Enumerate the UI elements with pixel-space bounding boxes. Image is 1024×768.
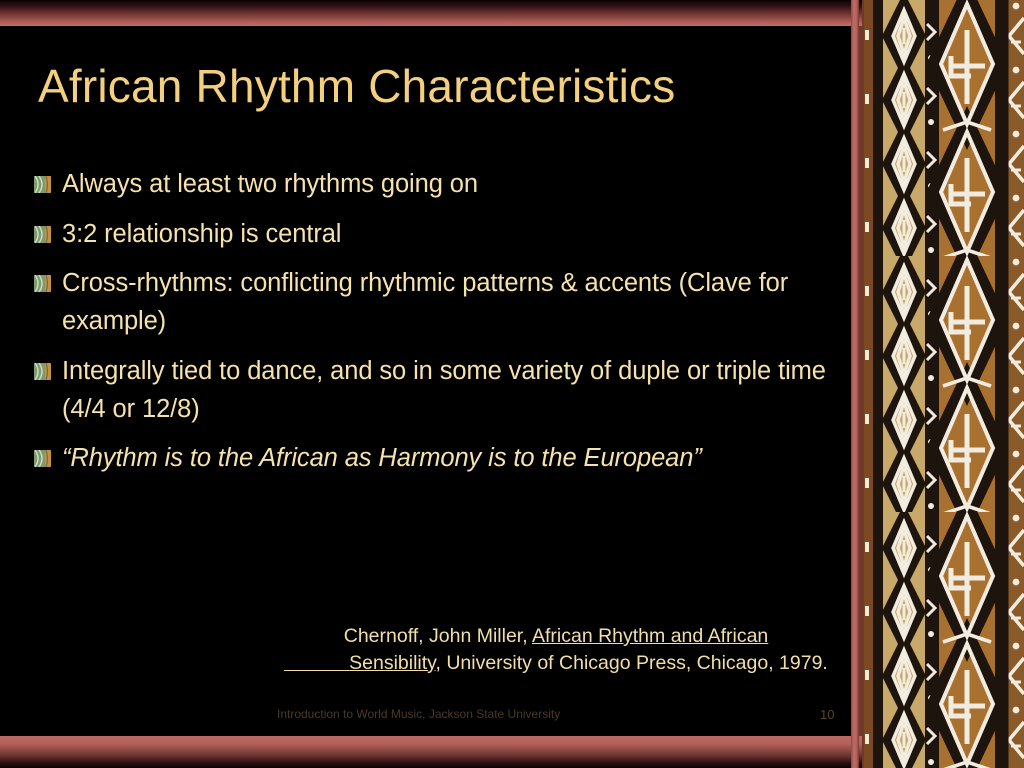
textile-square-bullet-icon (34, 275, 51, 292)
list-item-label: Always at least two rhythms going on (62, 166, 844, 204)
citation-author: Chernoff, John Miller, (344, 625, 532, 647)
mudcloth-pattern-strip (859, 0, 1024, 768)
list-item: Integrally tied to dance, and so in some… (34, 353, 844, 428)
footer-course-label: Introduction to World Music, Jackson Sta… (277, 707, 560, 721)
list-item-label: “Rhythm is to the African as Harmony is … (62, 440, 844, 478)
frame-bottom-bar (0, 736, 862, 768)
list-item: Cross-rhythms: conflicting rhythmic patt… (34, 265, 844, 340)
list-item: “Rhythm is to the African as Harmony is … (34, 440, 844, 478)
frame-vertical-divider (851, 0, 859, 768)
bullet-list: Always at least two rhythms going on (34, 166, 844, 490)
textile-square-bullet-icon (34, 226, 51, 243)
citation-place-year: Chicago, 1979. (697, 652, 828, 674)
list-item-label: Cross-rhythms: conflicting rhythmic patt… (62, 265, 844, 340)
page-title: African Rhythm Characteristics (38, 62, 838, 112)
slide-footer: Introduction to World Music, Jackson Sta… (0, 704, 851, 728)
slide-canvas: African Rhythm Characteristics (0, 0, 1024, 768)
list-item: 3:2 relationship is central (34, 216, 844, 254)
textile-square-bullet-icon (34, 176, 51, 193)
textile-square-bullet-icon (34, 363, 51, 380)
page-number: 10 (820, 707, 834, 722)
list-item-label: 3:2 relationship is central (62, 216, 844, 254)
list-item-label: Integrally tied to dance, and so in some… (62, 353, 844, 428)
textile-square-bullet-icon (34, 450, 51, 467)
slide-content: African Rhythm Characteristics (0, 26, 851, 736)
citation-book-title-line2: Sensibility (349, 652, 435, 674)
citation-book-title-line1: African Rhythm and African (532, 625, 768, 647)
frame-top-bar (0, 0, 862, 26)
citation-block: Chernoff, John Miller, African Rhythm an… (272, 623, 840, 676)
citation-lead-rule (284, 652, 349, 674)
citation-publisher: , University of Chicago Press, (435, 652, 691, 674)
list-item: Always at least two rhythms going on (34, 166, 844, 204)
